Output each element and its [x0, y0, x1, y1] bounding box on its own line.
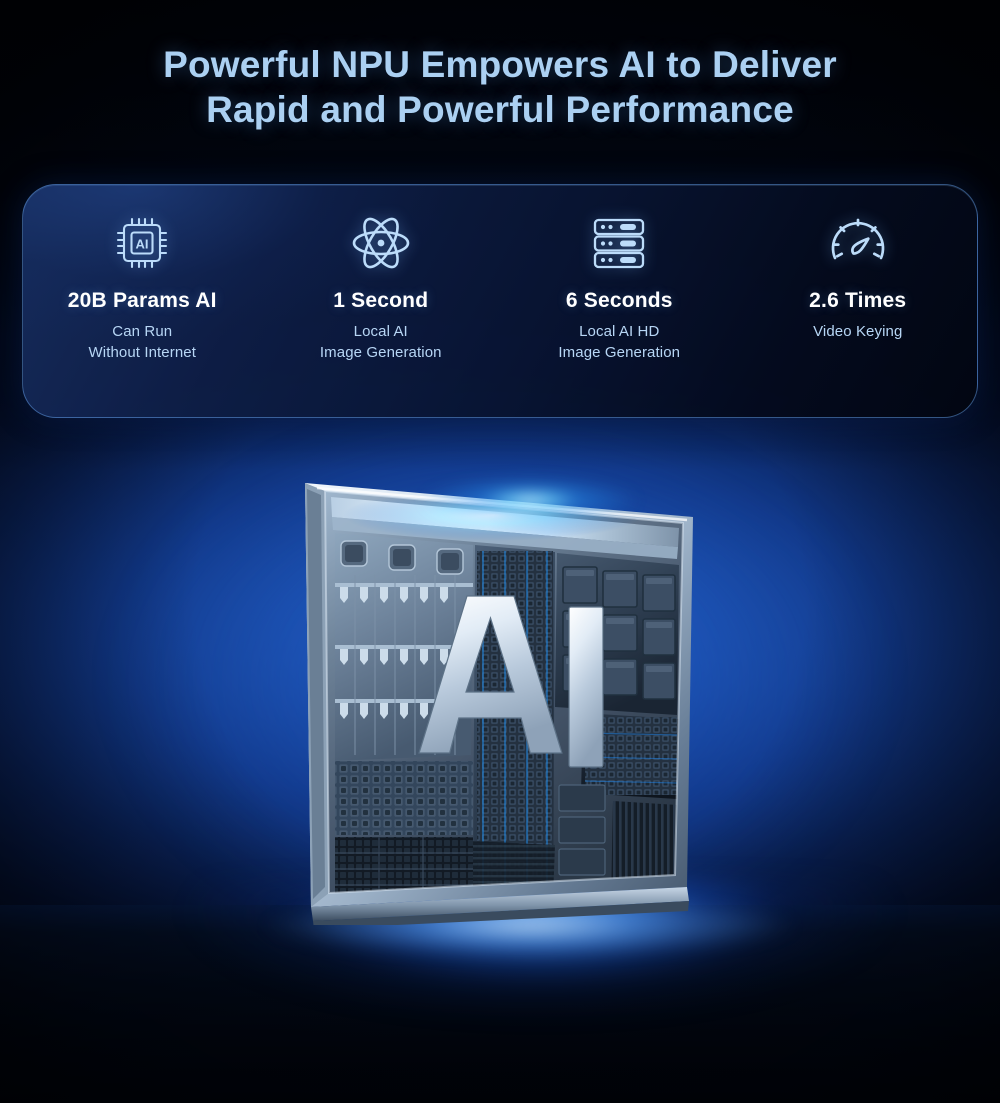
npu-chip-illustration — [283, 455, 723, 925]
page-title-line-1: Powerful NPU Empowers AI to Deliver — [163, 44, 837, 85]
speedometer-icon — [825, 207, 891, 279]
marketing-banner: Powerful NPU Empowers AI to Deliver Rapi… — [0, 0, 1000, 1103]
feature-description-line-2: Image Generation — [558, 344, 680, 361]
feature-item-video-keying: 2.6 Times Video Keying — [739, 185, 978, 417]
feature-description-line-1: Video Keying — [813, 323, 902, 340]
feature-item-image-generation: 1 Second Local AI Image Generation — [262, 185, 501, 417]
feature-item-params: AI 20B Params AI Can Run Without Interne… — [23, 185, 262, 417]
feature-description-line-1: Local AI — [354, 323, 408, 340]
feature-value: 1 Second — [333, 289, 428, 313]
feature-description-line-2: Without Internet — [89, 344, 197, 361]
feature-highlights-card: AI 20B Params AI Can Run Without Interne… — [22, 184, 978, 418]
feature-description: Video Keying — [813, 322, 902, 343]
feature-description-line-2: Image Generation — [320, 344, 442, 361]
feature-description: Can Run Without Internet — [89, 322, 197, 363]
page-title: Powerful NPU Empowers AI to Deliver Rapi… — [0, 42, 1000, 132]
feature-description: Local AI Image Generation — [320, 322, 442, 363]
page-title-line-2: Rapid and Powerful Performance — [0, 87, 1000, 132]
feature-value: 2.6 Times — [809, 289, 906, 313]
svg-text:AI: AI — [136, 237, 149, 252]
feature-description: Local AI HD Image Generation — [558, 322, 680, 363]
feature-item-hd-image-generation: 6 Seconds Local AI HD Image Generation — [500, 185, 739, 417]
ai-chip-icon: AI — [110, 207, 174, 279]
server-rack-icon — [588, 207, 650, 279]
feature-description-line-1: Can Run — [112, 323, 172, 340]
feature-value: 6 Seconds — [566, 289, 673, 313]
feature-value: 20B Params AI — [68, 289, 217, 313]
atom-icon — [348, 207, 414, 279]
feature-description-line-1: Local AI HD — [579, 323, 659, 340]
